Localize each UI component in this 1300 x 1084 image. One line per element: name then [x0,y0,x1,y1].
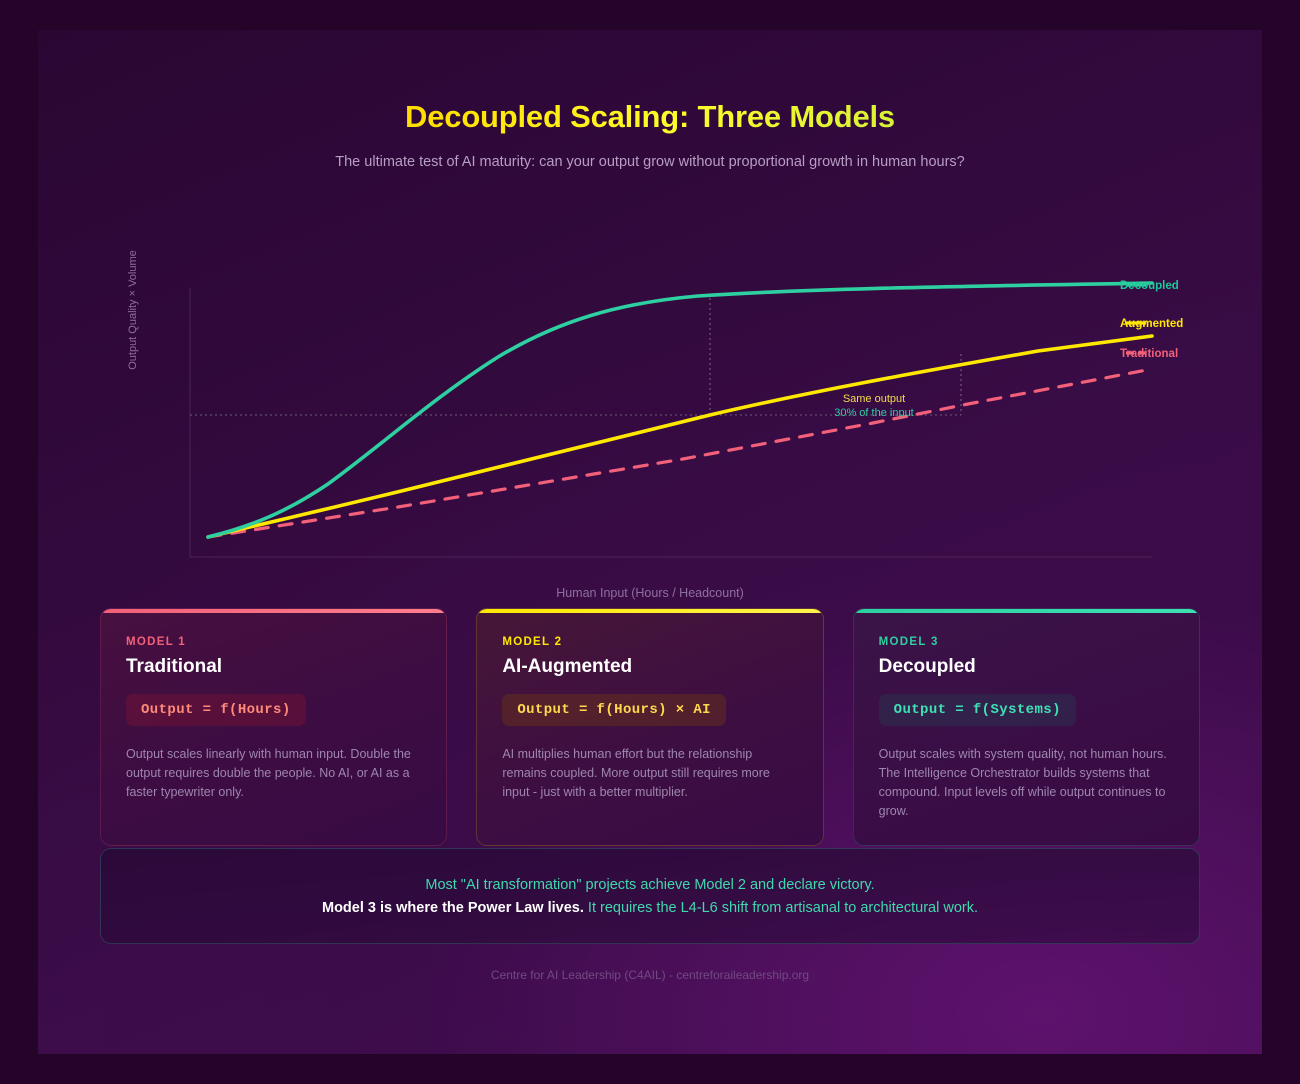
model-cards: MODEL 1 Traditional Output = f(Hours) Ou… [100,608,1200,846]
card-formula-chip: Output = f(Hours) [126,694,306,726]
card-eyebrow: MODEL 2 [502,636,797,648]
series-line-traditional [208,369,1152,537]
page-title: Decoupled Scaling: Three Models [38,99,1262,135]
legend-label-decoupled: Decoupled [1120,280,1179,292]
card-accent-bar [854,609,1199,613]
card-formula-chip: Output = f(Systems) [879,694,1076,726]
callout-rest-text: It requires the L4-L6 shift from artisan… [584,900,978,916]
page-subtitle: The ultimate test of AI maturity: can yo… [320,151,980,174]
model-card-ai-augmented[interactable]: MODEL 2 AI-Augmented Output = f(Hours) ×… [476,608,823,846]
callout-line-2: Model 3 is where the Power Law lives. It… [322,900,978,916]
series-line-augmented [208,336,1152,537]
card-eyebrow: MODEL 1 [126,636,421,648]
card-description: Output scales linearly with human input.… [126,745,421,802]
callout-box: Most "AI transformation" projects achiev… [100,848,1200,944]
model-card-decoupled[interactable]: MODEL 3 Decoupled Output = f(Systems) Ou… [853,608,1200,846]
annotation-same-output: Same output [794,393,954,405]
card-title: Traditional [126,656,421,678]
card-title: AI-Augmented [502,656,797,678]
footer-attribution: Centre for AI Leadership (C4AIL) - centr… [38,968,1262,982]
callout-bold-text: Model 3 is where the Power Law lives. [322,900,584,916]
series-line-decoupled [208,283,1152,537]
y-axis-label-text: Output Quality × Volume [127,250,139,370]
annotation-input-share: 30% of the input [794,407,954,419]
slide-panel: Decoupled Scaling: Three Models The ulti… [38,30,1262,1054]
card-accent-bar [101,609,446,613]
slide-header: Decoupled Scaling: Three Models The ulti… [38,30,1262,174]
chart-canvas [38,226,1262,626]
callout-line-1: Most "AI transformation" projects achiev… [425,877,874,893]
legend-label-traditional: Traditional [1120,348,1178,360]
x-axis-label: Human Input (Hours / Headcount) [38,586,1262,600]
y-axis-label: Output Quality × Volume [127,150,139,310]
slide-stage: Decoupled Scaling: Three Models The ulti… [0,0,1300,1084]
card-accent-bar [477,609,822,613]
legend-label-augmented: Augmented [1120,318,1183,330]
card-eyebrow: MODEL 3 [879,636,1174,648]
model-card-traditional[interactable]: MODEL 1 Traditional Output = f(Hours) Ou… [100,608,447,846]
card-formula-chip: Output = f(Hours) × AI [502,694,726,726]
card-description: AI multiplies human effort but the relat… [502,745,797,802]
scaling-chart: Output Quality × Volume Human Input (Hou… [38,226,1262,626]
card-title: Decoupled [879,656,1174,678]
card-description: Output scales with system quality, not h… [879,745,1174,821]
